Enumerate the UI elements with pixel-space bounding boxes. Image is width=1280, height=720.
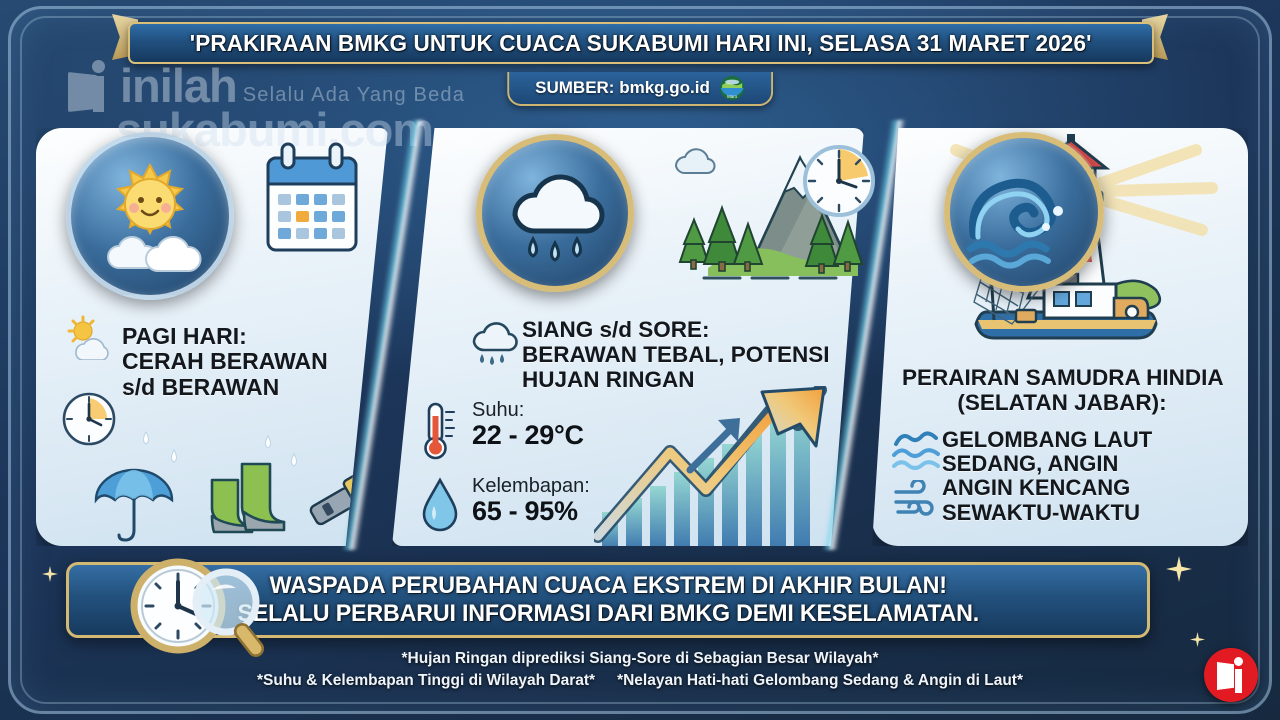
warning-line2: SELALU PERBARUI INFORMASI DARI BMKG DEMI… <box>237 600 979 628</box>
ocean-wave-icon <box>962 153 1086 271</box>
rising-chart-icon <box>594 386 844 546</box>
sea-heading-line1: PERAIRAN SAMUDRA HINDIA <box>902 366 1242 391</box>
page-title-banner: 'PRAKIRAAN BMKG UNTUK CUACA SUKABUMI HAR… <box>128 22 1154 64</box>
svg-text:Maro: Maro <box>727 94 738 99</box>
watermark-brand-line1: inilah <box>120 65 237 107</box>
badge-sea <box>944 132 1104 292</box>
rain-cloud-small-icon <box>466 314 518 366</box>
corner-logo <box>1204 648 1258 702</box>
sea-body: GELOMBANG LAUT SEDANG, ANGIN ANGIN KENCA… <box>942 428 1242 525</box>
morning-heading-line3: s/d BERAWAN <box>122 375 372 400</box>
morning-heading-line2: CERAH BERAWAN <box>122 349 372 374</box>
sparkle-icon <box>1190 632 1205 647</box>
sun-smiling-cloud-icon <box>86 157 214 275</box>
flashlight-icon <box>302 460 386 542</box>
sparkle-icon <box>1166 556 1192 582</box>
midday-heading-line1: SIANG s/d SORE: <box>522 318 862 343</box>
thermometer-icon <box>420 400 460 462</box>
sea-body-line2: SEDANG, ANGIN <box>942 452 1242 476</box>
sea-body-line3: ANGIN KENCANG <box>942 476 1242 500</box>
clock-magnifier-icon <box>126 556 286 660</box>
umbrella-icon <box>90 460 178 544</box>
sea-body-line1: GELOMBANG LAUT <box>942 428 1242 452</box>
stat-humidity: Kelembapan: 65 - 95% <box>420 476 590 534</box>
infographic-canvas: 'PRAKIRAAN BMKG UNTUK CUACA SUKABUMI HAR… <box>0 0 1280 720</box>
rain-cloud-icon <box>499 159 611 267</box>
sea-heading: PERAIRAN SAMUDRA HINDIA (SELATAN JABAR): <box>902 366 1242 416</box>
morning-heading: PAGI HARI: CERAH BERAWAN s/d BERAWAN <box>122 324 372 400</box>
stat-temperature-label: Suhu: <box>472 400 584 421</box>
footnote-line2a: *Suhu & Kelembapan Tinggi di Wilayah Dar… <box>257 670 595 692</box>
sea-heading-line2: (SELATAN JABAR): <box>902 391 1222 416</box>
warning-line1: WASPADA PERUBAHAN CUACA EKSTREM DI AKHIR… <box>237 572 979 600</box>
source-badge: SUMBER: bmkg.go.id Maro <box>507 72 773 106</box>
watermark-mark-icon <box>62 58 114 114</box>
stat-humidity-label: Kelembapan: <box>472 476 590 497</box>
wave-icon <box>892 428 940 472</box>
watermark-tagline: Selalu Ada Yang Beda <box>243 84 465 114</box>
stat-temperature-value: 22 - 29°C <box>472 421 584 449</box>
midday-heading: SIANG s/d SORE: BERAWAN TEBAL, POTENSI H… <box>522 318 862 392</box>
footnote-line2b: *Nelayan Hati-hati Gelombang Sedang & An… <box>617 670 1023 692</box>
sea-body-line4: SEWAKTU-WAKTU <box>942 501 1242 525</box>
water-drop-icon <box>420 476 460 534</box>
sun-behind-cloud-icon <box>62 314 116 360</box>
sparkle-icon <box>42 566 58 582</box>
clock-icon <box>60 390 118 448</box>
calendar-icon <box>258 142 366 262</box>
clock-icon <box>800 142 878 220</box>
rain-boots-icon <box>198 450 294 546</box>
wind-icon <box>892 480 940 522</box>
bmkg-logo-icon: Maro <box>719 75 745 101</box>
badge-morning <box>66 132 234 300</box>
badge-midday <box>476 134 634 292</box>
midday-heading-line2: BERAWAN TEBAL, POTENSI <box>522 343 862 368</box>
morning-heading-line1: PAGI HARI: <box>122 324 372 349</box>
stat-temperature: Suhu: 22 - 29°C <box>420 400 584 462</box>
stat-humidity-value: 65 - 95% <box>472 497 590 525</box>
page-title: 'PRAKIRAAN BMKG UNTUK CUACA SUKABUMI HAR… <box>190 30 1092 57</box>
source-label: SUMBER: bmkg.go.id <box>535 78 710 98</box>
